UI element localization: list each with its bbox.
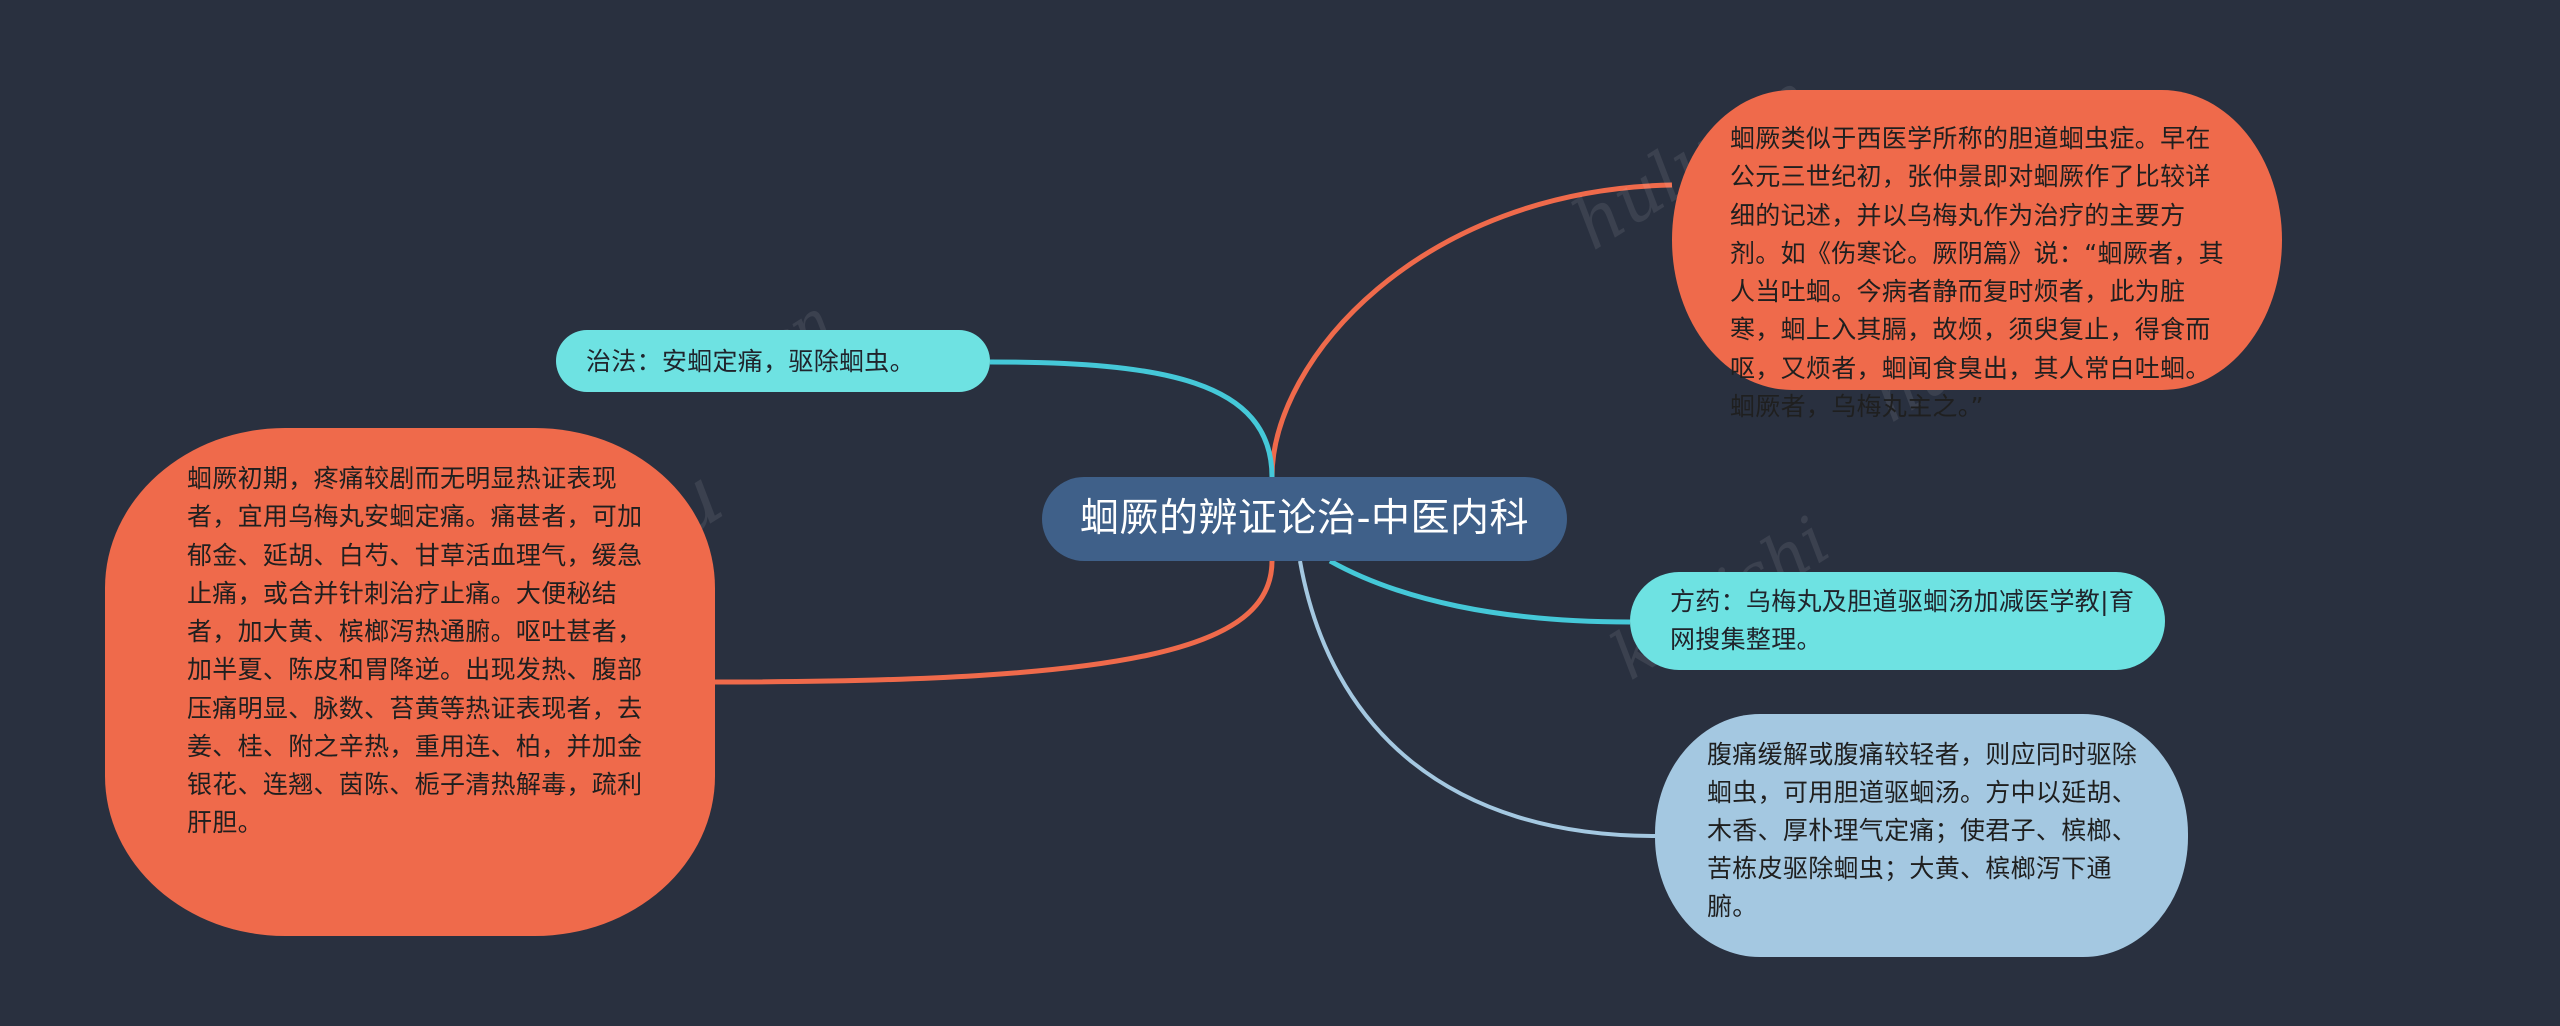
- mindmap-node-formula[interactable]: 方药：乌梅丸及胆道驱蛔汤加减医学教|育网搜集整理。: [1630, 572, 2165, 670]
- node-label: 蛔厥类似于西医学所称的胆道蛔虫症。早在公元三世纪初，张仲景即对蛔厥作了比较详细的…: [1730, 120, 2232, 426]
- edge-root-to-cyan-method: [990, 362, 1272, 477]
- mindmap-node-treatment-method[interactable]: 治法：安蛔定痛，驱除蛔虫。: [556, 330, 990, 392]
- edge-root-to-cyan-formula: [1330, 561, 1630, 622]
- mindmap-node-lightblue[interactable]: 腹痛缓解或腹痛较轻者，则应同时驱除蛔虫，可用胆道驱蛔汤。方中以延胡、木香、厚朴理…: [1655, 714, 2188, 957]
- edge-root-to-lightblue: [1300, 561, 1655, 836]
- node-label: 治法：安蛔定痛，驱除蛔虫。: [586, 344, 968, 379]
- mindmap-canvas: zhishixiniu hulu.cn kuaishi cn hulu.cn 蛔…: [0, 0, 2560, 1026]
- mindmap-root-node[interactable]: 蛔厥的辨证论治-中医内科: [1042, 477, 1567, 561]
- mindmap-node-orange-left[interactable]: 蛔厥初期，疼痛较剧而无明显热证表现者，宜用乌梅丸安蛔定痛。痛甚者，可加郁金、延胡…: [105, 428, 715, 936]
- node-label: 方药：乌梅丸及胆道驱蛔汤加减医学教|育网搜集整理。: [1670, 583, 2139, 659]
- root-node-label: 蛔厥的辨证论治-中医内科: [1080, 498, 1529, 541]
- edge-root-to-orange-left: [715, 561, 1272, 682]
- edge-root-to-orange-right: [1272, 185, 1672, 477]
- node-label: 蛔厥初期，疼痛较剧而无明显热证表现者，宜用乌梅丸安蛔定痛。痛甚者，可加郁金、延胡…: [187, 460, 667, 843]
- mindmap-node-orange-right[interactable]: 蛔厥类似于西医学所称的胆道蛔虫症。早在公元三世纪初，张仲景即对蛔厥作了比较详细的…: [1672, 90, 2282, 390]
- node-label: 腹痛缓解或腹痛较轻者，则应同时驱除蛔虫，可用胆道驱蛔汤。方中以延胡、木香、厚朴理…: [1707, 736, 2158, 926]
